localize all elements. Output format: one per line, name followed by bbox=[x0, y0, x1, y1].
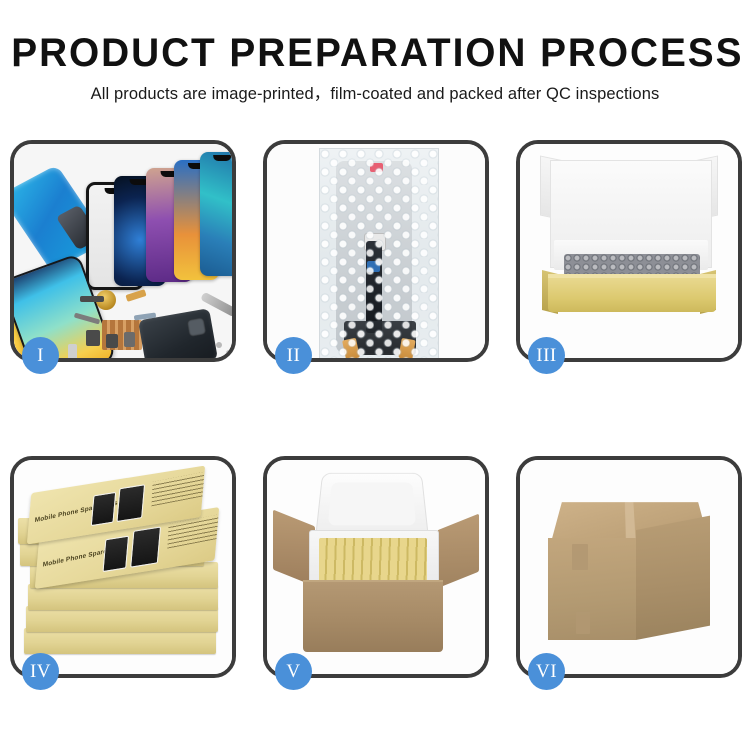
step-badge-1: I bbox=[22, 337, 59, 374]
step-6-image bbox=[520, 460, 738, 674]
page-subtitle: All products are image-printed，film-coat… bbox=[0, 83, 750, 105]
connector-part-icon bbox=[80, 296, 104, 302]
box-screen-image bbox=[91, 492, 116, 526]
box-screen-image bbox=[116, 484, 145, 522]
speaker-part-icon bbox=[106, 334, 118, 348]
vibrator-part-icon bbox=[124, 332, 135, 347]
yellow-boxes-inside-icon bbox=[319, 538, 427, 582]
carton-front-icon bbox=[548, 538, 636, 640]
process-step-5[interactable]: V bbox=[263, 456, 489, 678]
foam-lid-icon bbox=[315, 473, 428, 535]
packing-tape-icon bbox=[576, 612, 590, 634]
screw-icon bbox=[226, 350, 232, 356]
process-step-3[interactable]: III bbox=[516, 140, 742, 362]
carton-front-icon bbox=[303, 582, 443, 652]
step-badge-3: III bbox=[528, 337, 565, 374]
packing-tape-icon bbox=[572, 544, 588, 570]
step-badge-5: V bbox=[275, 653, 312, 690]
box-screen-image bbox=[102, 536, 129, 573]
bubble-bag-icon bbox=[319, 148, 439, 358]
bubble-texture bbox=[320, 149, 438, 358]
screw-icon bbox=[216, 342, 222, 348]
box-spec-lines bbox=[151, 472, 204, 506]
box-stack: Mobile Phone Spare Parts Mobile Phone Sp… bbox=[14, 460, 232, 674]
notch-icon bbox=[213, 155, 231, 161]
step-2-image bbox=[267, 144, 485, 358]
carton-side-icon bbox=[636, 516, 710, 640]
process-step-grid: I II bbox=[10, 140, 742, 678]
process-step-2[interactable]: II bbox=[263, 140, 489, 362]
button-part-icon bbox=[86, 330, 100, 346]
process-step-6[interactable]: VI bbox=[516, 456, 742, 678]
step-5-image bbox=[267, 460, 485, 674]
step-4-image: Mobile Phone Spare Parts Mobile Phone Sp… bbox=[14, 460, 232, 674]
sim-tray-icon bbox=[68, 344, 77, 358]
page-title: PRODUCT PREPARATION PROCESS bbox=[11, 32, 739, 74]
step-1-image bbox=[14, 144, 232, 358]
process-step-4[interactable]: Mobile Phone Spare Parts Mobile Phone Sp… bbox=[10, 456, 236, 678]
page-header: PRODUCT PREPARATION PROCESS All products… bbox=[0, 0, 750, 105]
phone-teal-icon bbox=[200, 152, 232, 276]
box-screen-image bbox=[130, 526, 161, 567]
step-badge-2: II bbox=[275, 337, 312, 374]
process-step-1[interactable]: I bbox=[10, 140, 236, 362]
yellow-box-front-icon bbox=[548, 278, 716, 312]
step-3-image bbox=[520, 144, 738, 358]
step-badge-4: IV bbox=[22, 653, 59, 690]
step-badge-6: VI bbox=[528, 653, 565, 690]
